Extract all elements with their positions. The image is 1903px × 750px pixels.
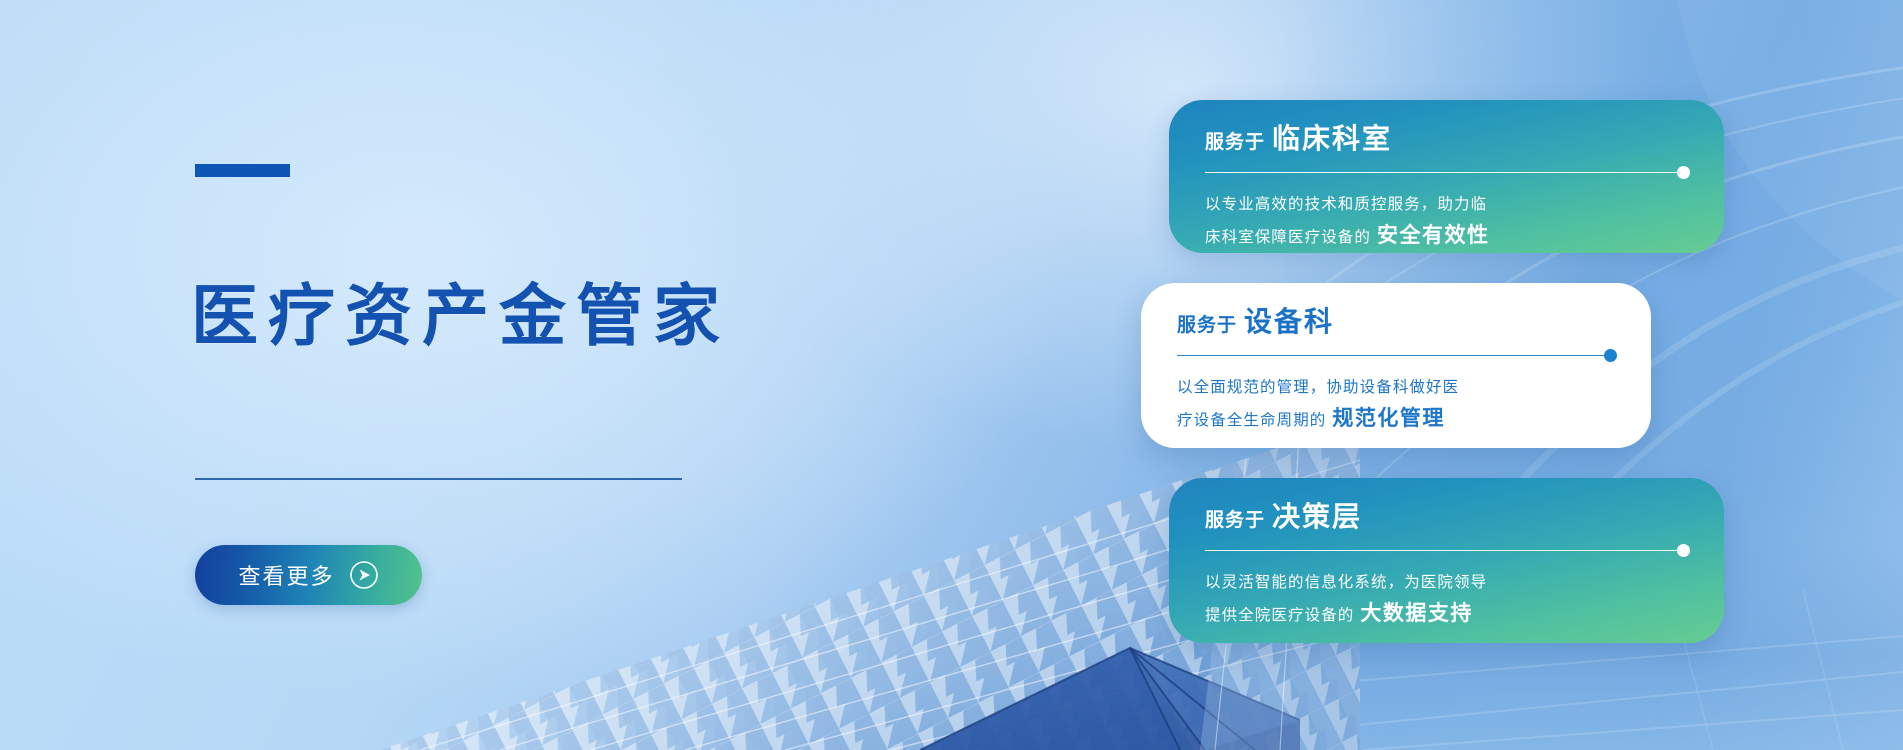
card-title-strong: 临床科室 bbox=[1272, 123, 1392, 154]
card-body-line-1: 以灵活智能的信息化系统，为医院领导 bbox=[1205, 570, 1690, 597]
card-rule-dot-icon bbox=[1677, 544, 1690, 557]
card-title-strong: 设备科 bbox=[1244, 306, 1334, 337]
arrow-right-circle-icon bbox=[349, 560, 379, 590]
card-body-emphasis: 大数据支持 bbox=[1360, 602, 1473, 625]
view-more-label: 查看更多 bbox=[238, 559, 334, 591]
service-card-equipment-department[interactable]: 服务于设备科 以全面规范的管理，协助设备科做好医 疗设备全生命周期的规范化管理 bbox=[1141, 283, 1651, 448]
hero-left-content: 医疗资产金管家 查看更多 bbox=[195, 0, 815, 750]
service-card-decision-makers[interactable]: 服务于决策层 以灵活智能的信息化系统，为医院领导 提供全院医疗设备的大数据支持 bbox=[1169, 478, 1724, 643]
card-body: 以全面规范的管理，协助设备科做好医 疗设备全生命周期的规范化管理 bbox=[1177, 375, 1617, 438]
view-more-button[interactable]: 查看更多 bbox=[195, 545, 422, 605]
card-rule-dot-icon bbox=[1677, 166, 1690, 179]
card-body-line-1: 以专业高效的技术和质控服务，助力临 bbox=[1205, 192, 1690, 219]
card-body-line-2-text: 提供全院医疗设备的 bbox=[1205, 607, 1354, 624]
card-title-strong: 决策层 bbox=[1272, 501, 1362, 532]
card-body-emphasis: 规范化管理 bbox=[1332, 407, 1445, 430]
card-rule bbox=[1177, 346, 1617, 366]
service-card-clinical-department[interactable]: 服务于临床科室 以专业高效的技术和质控服务，助力临 床科室保障医疗设备的安全有效… bbox=[1169, 100, 1724, 253]
hero-banner: 医疗资产金管家 查看更多 服务于临床科室 以专业高效的技术和质控服 bbox=[0, 0, 1903, 750]
card-body-line-2: 疗设备全生命周期的规范化管理 bbox=[1177, 401, 1617, 437]
page-title: 医疗资产金管家 bbox=[191, 283, 730, 350]
card-body: 以灵活智能的信息化系统，为医院领导 提供全院医疗设备的大数据支持 bbox=[1205, 570, 1690, 633]
card-rule-dot-icon bbox=[1604, 349, 1617, 362]
card-body-emphasis: 安全有效性 bbox=[1377, 224, 1490, 247]
card-title-prefix: 服务于 bbox=[1177, 315, 1237, 336]
card-title-prefix: 服务于 bbox=[1205, 132, 1265, 153]
card-body-line-2-text: 疗设备全生命周期的 bbox=[1177, 412, 1326, 429]
service-cards: 服务于临床科室 以专业高效的技术和质控服务，助力临 床科室保障医疗设备的安全有效… bbox=[1123, 0, 1903, 750]
card-rule-line bbox=[1205, 550, 1684, 552]
accent-bar-icon bbox=[195, 164, 290, 177]
card-rule-line bbox=[1177, 355, 1611, 357]
card-rule bbox=[1205, 541, 1690, 561]
card-title: 服务于设备科 bbox=[1177, 307, 1617, 338]
card-title: 服务于临床科室 bbox=[1205, 124, 1690, 155]
card-title-prefix: 服务于 bbox=[1205, 510, 1265, 531]
card-body: 以专业高效的技术和质控服务，助力临 床科室保障医疗设备的安全有效性 bbox=[1205, 192, 1690, 255]
card-body-line-2: 提供全院医疗设备的大数据支持 bbox=[1205, 596, 1690, 632]
card-rule-line bbox=[1205, 172, 1684, 174]
card-body-line-2: 床科室保障医疗设备的安全有效性 bbox=[1205, 218, 1690, 254]
divider bbox=[195, 478, 682, 480]
card-rule bbox=[1205, 163, 1690, 183]
card-body-line-1: 以全面规范的管理，协助设备科做好医 bbox=[1177, 375, 1617, 402]
card-title: 服务于决策层 bbox=[1205, 502, 1690, 533]
card-body-line-2-text: 床科室保障医疗设备的 bbox=[1205, 229, 1371, 246]
